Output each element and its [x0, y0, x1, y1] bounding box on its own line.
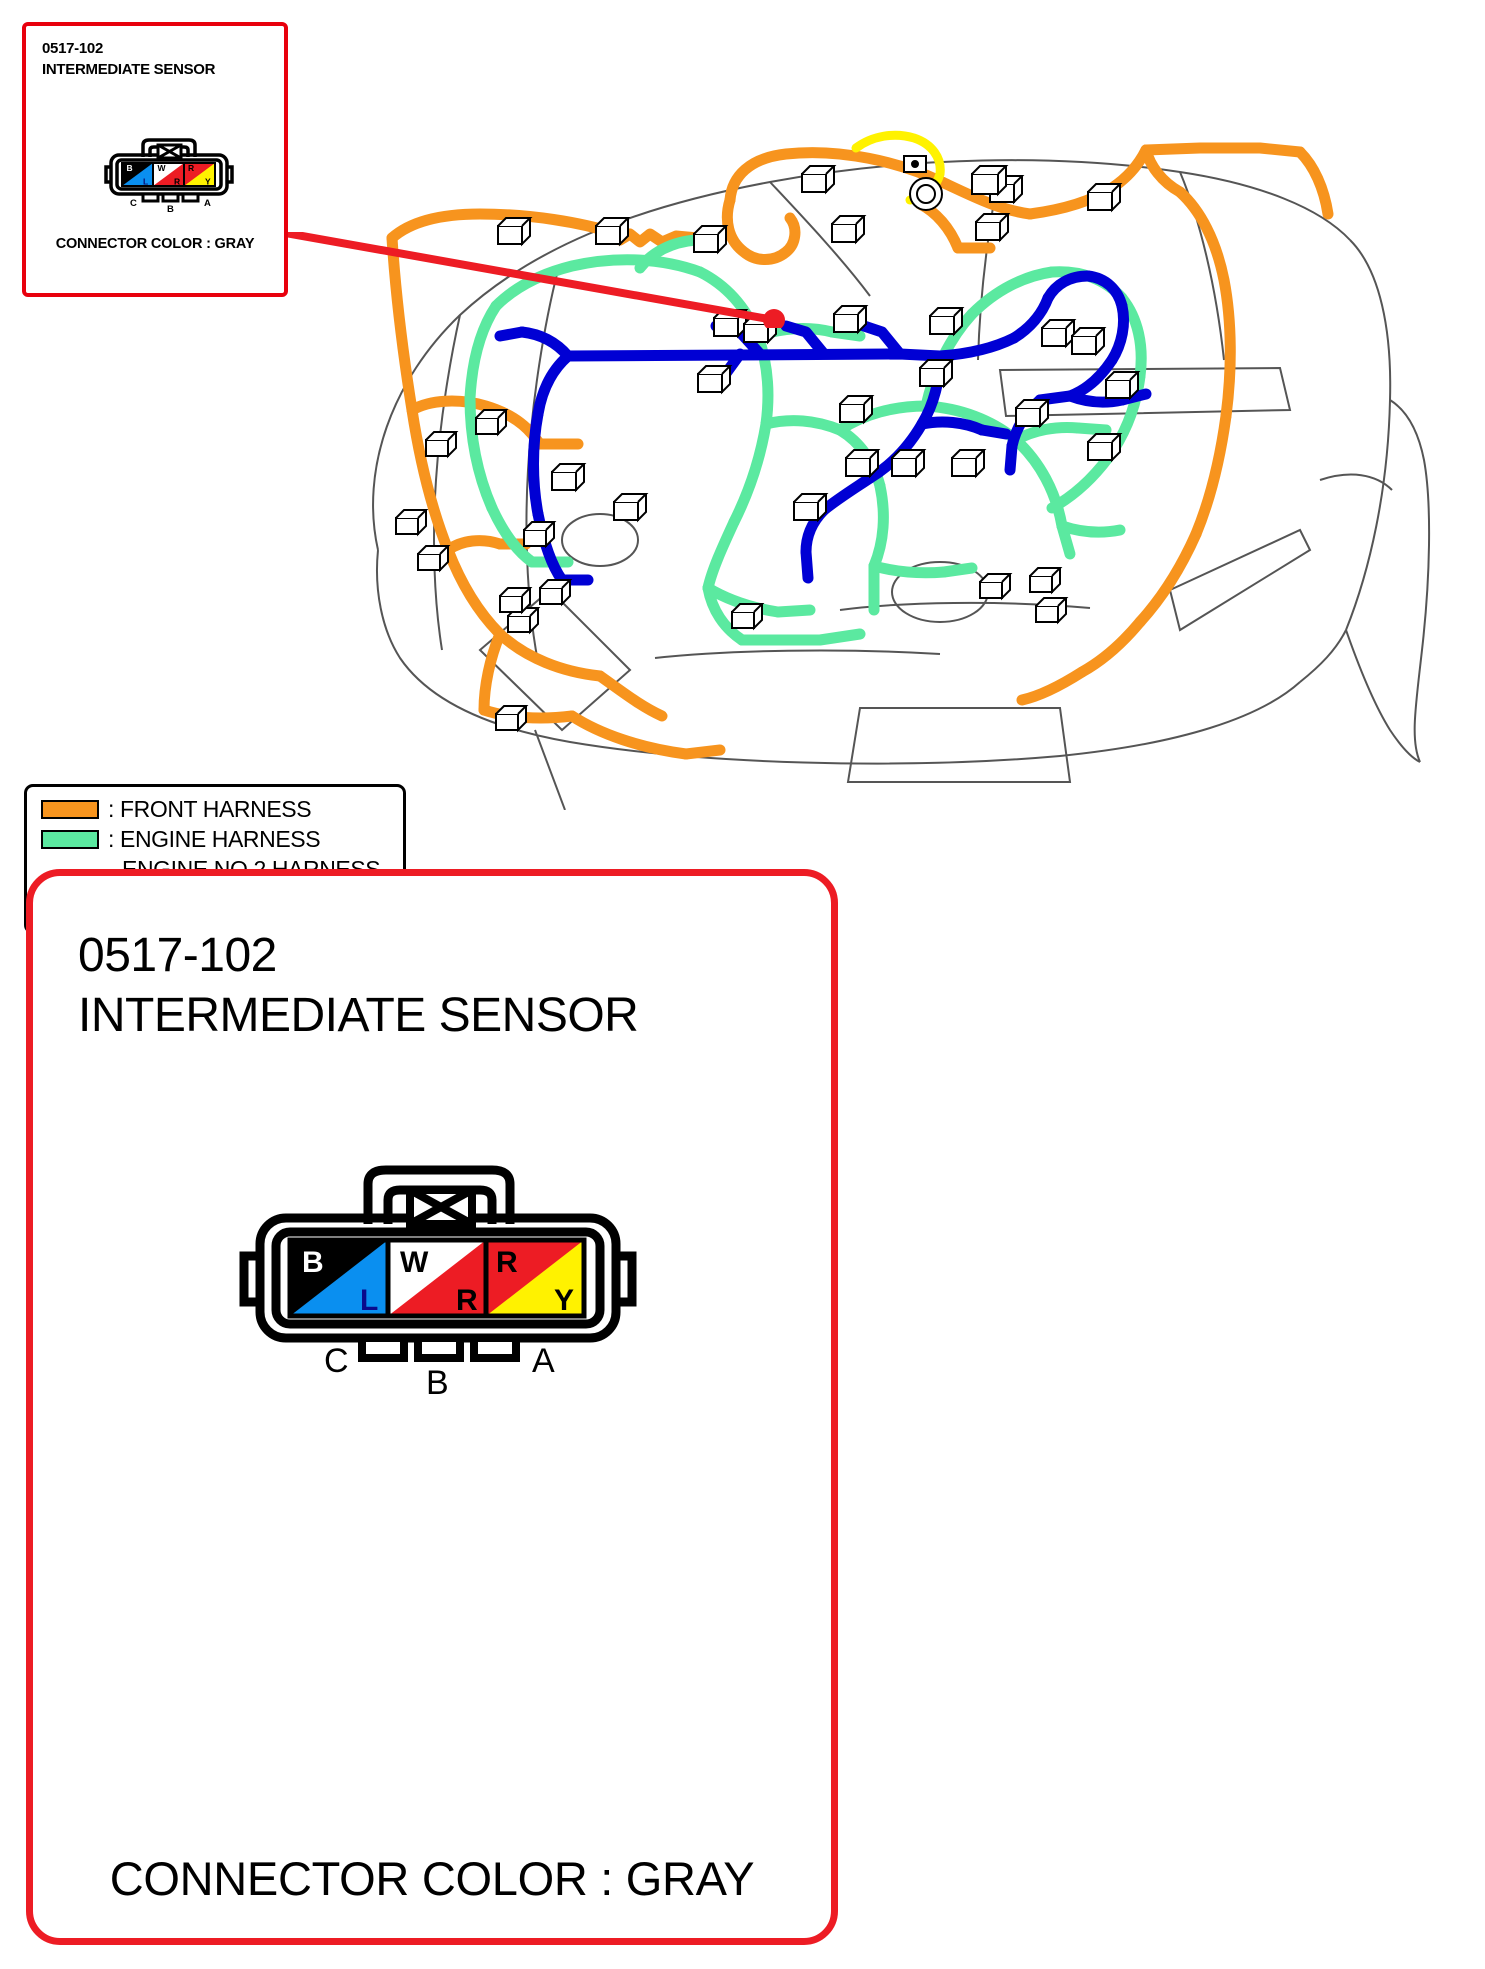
- legend-swatch-engine-harness: [41, 830, 99, 849]
- cavity-strip-large: B L W R R Y: [290, 1240, 584, 1317]
- svg-text:Y: Y: [554, 1284, 574, 1317]
- wiring-harness-illustration: [300, 110, 1460, 810]
- svg-text:W: W: [158, 163, 167, 173]
- cavity-strip-small: B L W R R Y: [122, 163, 215, 187]
- svg-text:L: L: [360, 1284, 378, 1317]
- legend-row-front-harness: : FRONT HARNESS: [27, 794, 403, 824]
- svg-text:R: R: [188, 163, 194, 173]
- legend-label-front-harness: : FRONT HARNESS: [108, 798, 311, 821]
- tab-label-a-large: A: [532, 1342, 555, 1380]
- connector-pinout-large: B L W R R Y: [238, 1156, 638, 1404]
- tab-label-a: A: [204, 198, 211, 209]
- bowtie-latch-icon: [158, 145, 181, 158]
- connector-svg-large: B L W R R Y: [238, 1156, 638, 1404]
- top-callout-box: 0517-102 INTERMEDIATE SENSOR: [22, 22, 288, 297]
- connector-pinout-small: B L W R R Y: [104, 134, 234, 214]
- bottom-callout-name: INTERMEDIATE SENSOR: [78, 988, 638, 1043]
- svg-text:W: W: [400, 1246, 429, 1279]
- connector-svg-small: B L W R R Y: [104, 134, 234, 214]
- legend-label-engine-harness: : ENGINE HARNESS: [108, 828, 320, 851]
- tab-label-b-large: B: [426, 1364, 449, 1402]
- bottom-callout-box: 0517-102 INTERMEDIATE SENSOR: [26, 869, 838, 1945]
- cavity-group-c: B L: [290, 1240, 388, 1317]
- tab-label-c-large: C: [324, 1342, 349, 1380]
- bowtie-latch-icon: [410, 1190, 472, 1224]
- bottom-callout-connector-color: CONNECTOR COLOR : GRAY: [33, 1851, 831, 1906]
- top-callout-connector-color: CONNECTOR COLOR : GRAY: [26, 236, 284, 252]
- cavity-group-a: R Y: [486, 1240, 584, 1317]
- top-callout-name: INTERMEDIATE SENSOR: [42, 61, 215, 78]
- svg-text:B: B: [127, 163, 133, 173]
- tab-label-b: B: [167, 204, 174, 214]
- cavity-group-b: W R: [388, 1240, 486, 1317]
- tab-label-c: C: [130, 198, 137, 209]
- legend-swatch-front-harness: [41, 800, 99, 819]
- bottom-callout-code: 0517-102: [78, 928, 277, 983]
- svg-text:R: R: [456, 1284, 478, 1317]
- svg-text:R: R: [496, 1246, 518, 1279]
- svg-text:B: B: [302, 1246, 324, 1279]
- legend-row-engine-harness: : ENGINE HARNESS: [27, 824, 403, 854]
- top-callout-code: 0517-102: [42, 40, 103, 57]
